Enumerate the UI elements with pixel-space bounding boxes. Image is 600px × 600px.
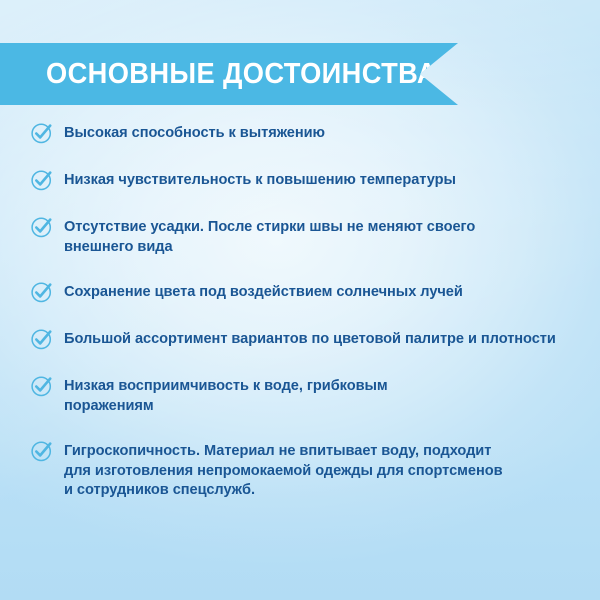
- page-title: ОСНОВНЫЕ ДОСТОИНСТВА: [46, 58, 437, 91]
- list-item-label: Сохранение цвета под воздействием солнеч…: [64, 281, 463, 303]
- list-item: Высокая способность к вытяжению: [30, 122, 580, 145]
- check-circle-icon: [30, 439, 54, 463]
- header-ribbon: ОСНОВНЫЕ ДОСТОИНСТВА: [0, 43, 458, 105]
- list-item: Гигроскопичность. Материал не впитывает …: [30, 440, 580, 501]
- list-item-label: Низкая чувствительность к повышению темп…: [64, 169, 456, 191]
- poster-canvas: ОСНОВНЫЕ ДОСТОИНСТВА Высокая способность…: [0, 0, 600, 600]
- check-circle-icon: [30, 374, 54, 398]
- list-item-label: Высокая способность к вытяжению: [64, 122, 325, 144]
- check-circle-icon: [30, 280, 54, 304]
- list-item-label: Гигроскопичность. Материал не впитывает …: [64, 440, 503, 501]
- list-item-label: Низкая восприимчивость к воде, грибковым…: [64, 375, 388, 416]
- benefits-list: Высокая способность к вытяжению Низкая ч…: [30, 122, 580, 501]
- list-item: Отсутствие усадки. После стирки швы не м…: [30, 216, 580, 257]
- check-circle-icon: [30, 215, 54, 239]
- list-item: Низкая восприимчивость к воде, грибковым…: [30, 375, 580, 416]
- list-item-label: Отсутствие усадки. После стирки швы не м…: [64, 216, 475, 257]
- list-item-label: Большой ассортимент вариантов по цветово…: [64, 328, 556, 350]
- check-circle-icon: [30, 168, 54, 192]
- check-circle-icon: [30, 327, 54, 351]
- list-item: Большой ассортимент вариантов по цветово…: [30, 328, 580, 351]
- check-circle-icon: [30, 121, 54, 145]
- list-item: Сохранение цвета под воздействием солнеч…: [30, 281, 580, 304]
- list-item: Низкая чувствительность к повышению темп…: [30, 169, 580, 192]
